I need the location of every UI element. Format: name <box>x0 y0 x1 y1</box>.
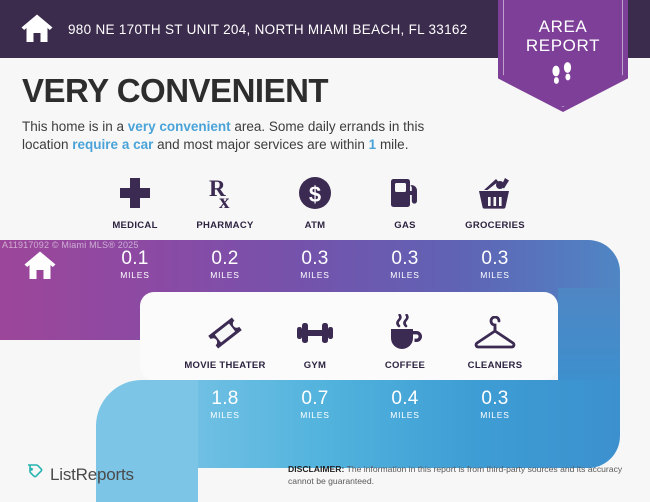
distance-unit: MILES <box>180 410 270 420</box>
footprints-icon <box>498 62 628 88</box>
category-atm[interactable]: $ ATM <box>270 172 360 231</box>
distance-value: 0.3 <box>270 248 360 269</box>
distance-coffee: 0.4 MILES <box>360 388 450 420</box>
dumbbell-icon <box>294 312 336 354</box>
badge-title: AREA REPORT <box>498 0 628 55</box>
dollar-circle-icon: $ <box>297 172 333 214</box>
row1-distances: 0.1 MILES 0.2 MILES 0.3 MILES 0.3 MILES … <box>90 248 540 280</box>
distance-unit: MILES <box>180 270 270 280</box>
svg-text:$: $ <box>309 182 321 207</box>
category-label: CLEANERS <box>468 360 523 371</box>
category-label: GYM <box>304 360 327 371</box>
medical-cross-icon <box>117 172 153 214</box>
row1-icons: MEDICAL R x PHARMACY $ ATM GAS <box>90 172 540 231</box>
distance-value: 0.2 <box>180 248 270 269</box>
summary-highlight-1: very convenient <box>128 119 231 134</box>
distance-cleaners: 0.3 MILES <box>450 388 540 420</box>
svg-text:x: x <box>219 189 230 212</box>
distance-unit: MILES <box>360 270 450 280</box>
distance-atm: 0.3 MILES <box>270 248 360 280</box>
home-marker-icon <box>23 250 57 282</box>
distance-value: 0.1 <box>90 248 180 269</box>
listreports-logo[interactable]: ListReports <box>24 462 134 487</box>
badge-line-2: REPORT <box>498 36 628 55</box>
category-label: ATM <box>305 220 326 231</box>
summary-part-4: mile. <box>376 137 408 152</box>
distance-gas: 0.3 MILES <box>360 248 450 280</box>
distance-unit: MILES <box>270 410 360 420</box>
distance-value: 0.3 <box>450 388 540 409</box>
category-groceries[interactable]: GROCERIES <box>450 172 540 231</box>
hanger-icon <box>473 312 517 354</box>
disclaimer-label: DISCLAIMER: <box>288 464 344 474</box>
distance-unit: MILES <box>360 410 450 420</box>
row2-distances: 1.8 MILES 0.7 MILES 0.4 MILES 0.3 MILES <box>180 388 540 420</box>
listreports-tag-icon <box>24 462 44 487</box>
category-pharmacy[interactable]: R x PHARMACY <box>180 172 270 231</box>
distance-value: 0.4 <box>360 388 450 409</box>
summary-highlight-2: require a car <box>72 137 153 152</box>
distance-unit: MILES <box>450 410 540 420</box>
category-medical[interactable]: MEDICAL <box>90 172 180 231</box>
page-title: VERY CONVENIENT <box>22 72 328 110</box>
category-label: MOVIE THEATER <box>184 360 265 371</box>
distance-unit: MILES <box>450 270 540 280</box>
category-movie-theater[interactable]: MOVIE THEATER <box>180 312 270 371</box>
distance-medical: 0.1 MILES <box>90 248 180 280</box>
category-label: MEDICAL <box>112 220 157 231</box>
property-address: 980 NE 170TH ST UNIT 204, NORTH MIAMI BE… <box>68 22 468 37</box>
summary-text: This home is in a very convenient area. … <box>22 118 462 154</box>
distance-movie-theater: 1.8 MILES <box>180 388 270 420</box>
grocery-basket-icon <box>475 172 515 214</box>
category-label: COFFEE <box>385 360 425 371</box>
distance-gym: 0.7 MILES <box>270 388 360 420</box>
movie-ticket-icon <box>205 312 245 354</box>
row2-icons: MOVIE THEATER GYM COFFEE <box>180 312 540 371</box>
badge-line-1: AREA <box>498 17 628 36</box>
area-report-badge: AREA REPORT <box>498 0 628 112</box>
distance-unit: MILES <box>90 270 180 280</box>
distance-unit: MILES <box>270 270 360 280</box>
listreports-logo-text: ListReports <box>50 465 134 485</box>
category-coffee[interactable]: COFFEE <box>360 312 450 371</box>
distance-value: 0.3 <box>360 248 450 269</box>
coffee-cup-icon <box>385 312 425 354</box>
disclaimer: DISCLAIMER: The information in this repo… <box>288 464 640 487</box>
summary-part-3: and most major services are within <box>153 137 368 152</box>
category-label: GAS <box>394 220 416 231</box>
rx-icon: R x <box>207 172 243 214</box>
distance-groceries: 0.3 MILES <box>450 248 540 280</box>
home-icon <box>20 13 54 45</box>
category-gas[interactable]: GAS <box>360 172 450 231</box>
category-gym[interactable]: GYM <box>270 312 360 371</box>
category-label: PHARMACY <box>196 220 253 231</box>
distance-pharmacy: 0.2 MILES <box>180 248 270 280</box>
summary-part-1: This home is in a <box>22 119 128 134</box>
distance-value: 0.3 <box>450 248 540 269</box>
distance-value: 1.8 <box>180 388 270 409</box>
distance-value: 0.7 <box>270 388 360 409</box>
gas-pump-icon <box>388 172 422 214</box>
category-label: GROCERIES <box>465 220 525 231</box>
category-cleaners[interactable]: CLEANERS <box>450 312 540 371</box>
